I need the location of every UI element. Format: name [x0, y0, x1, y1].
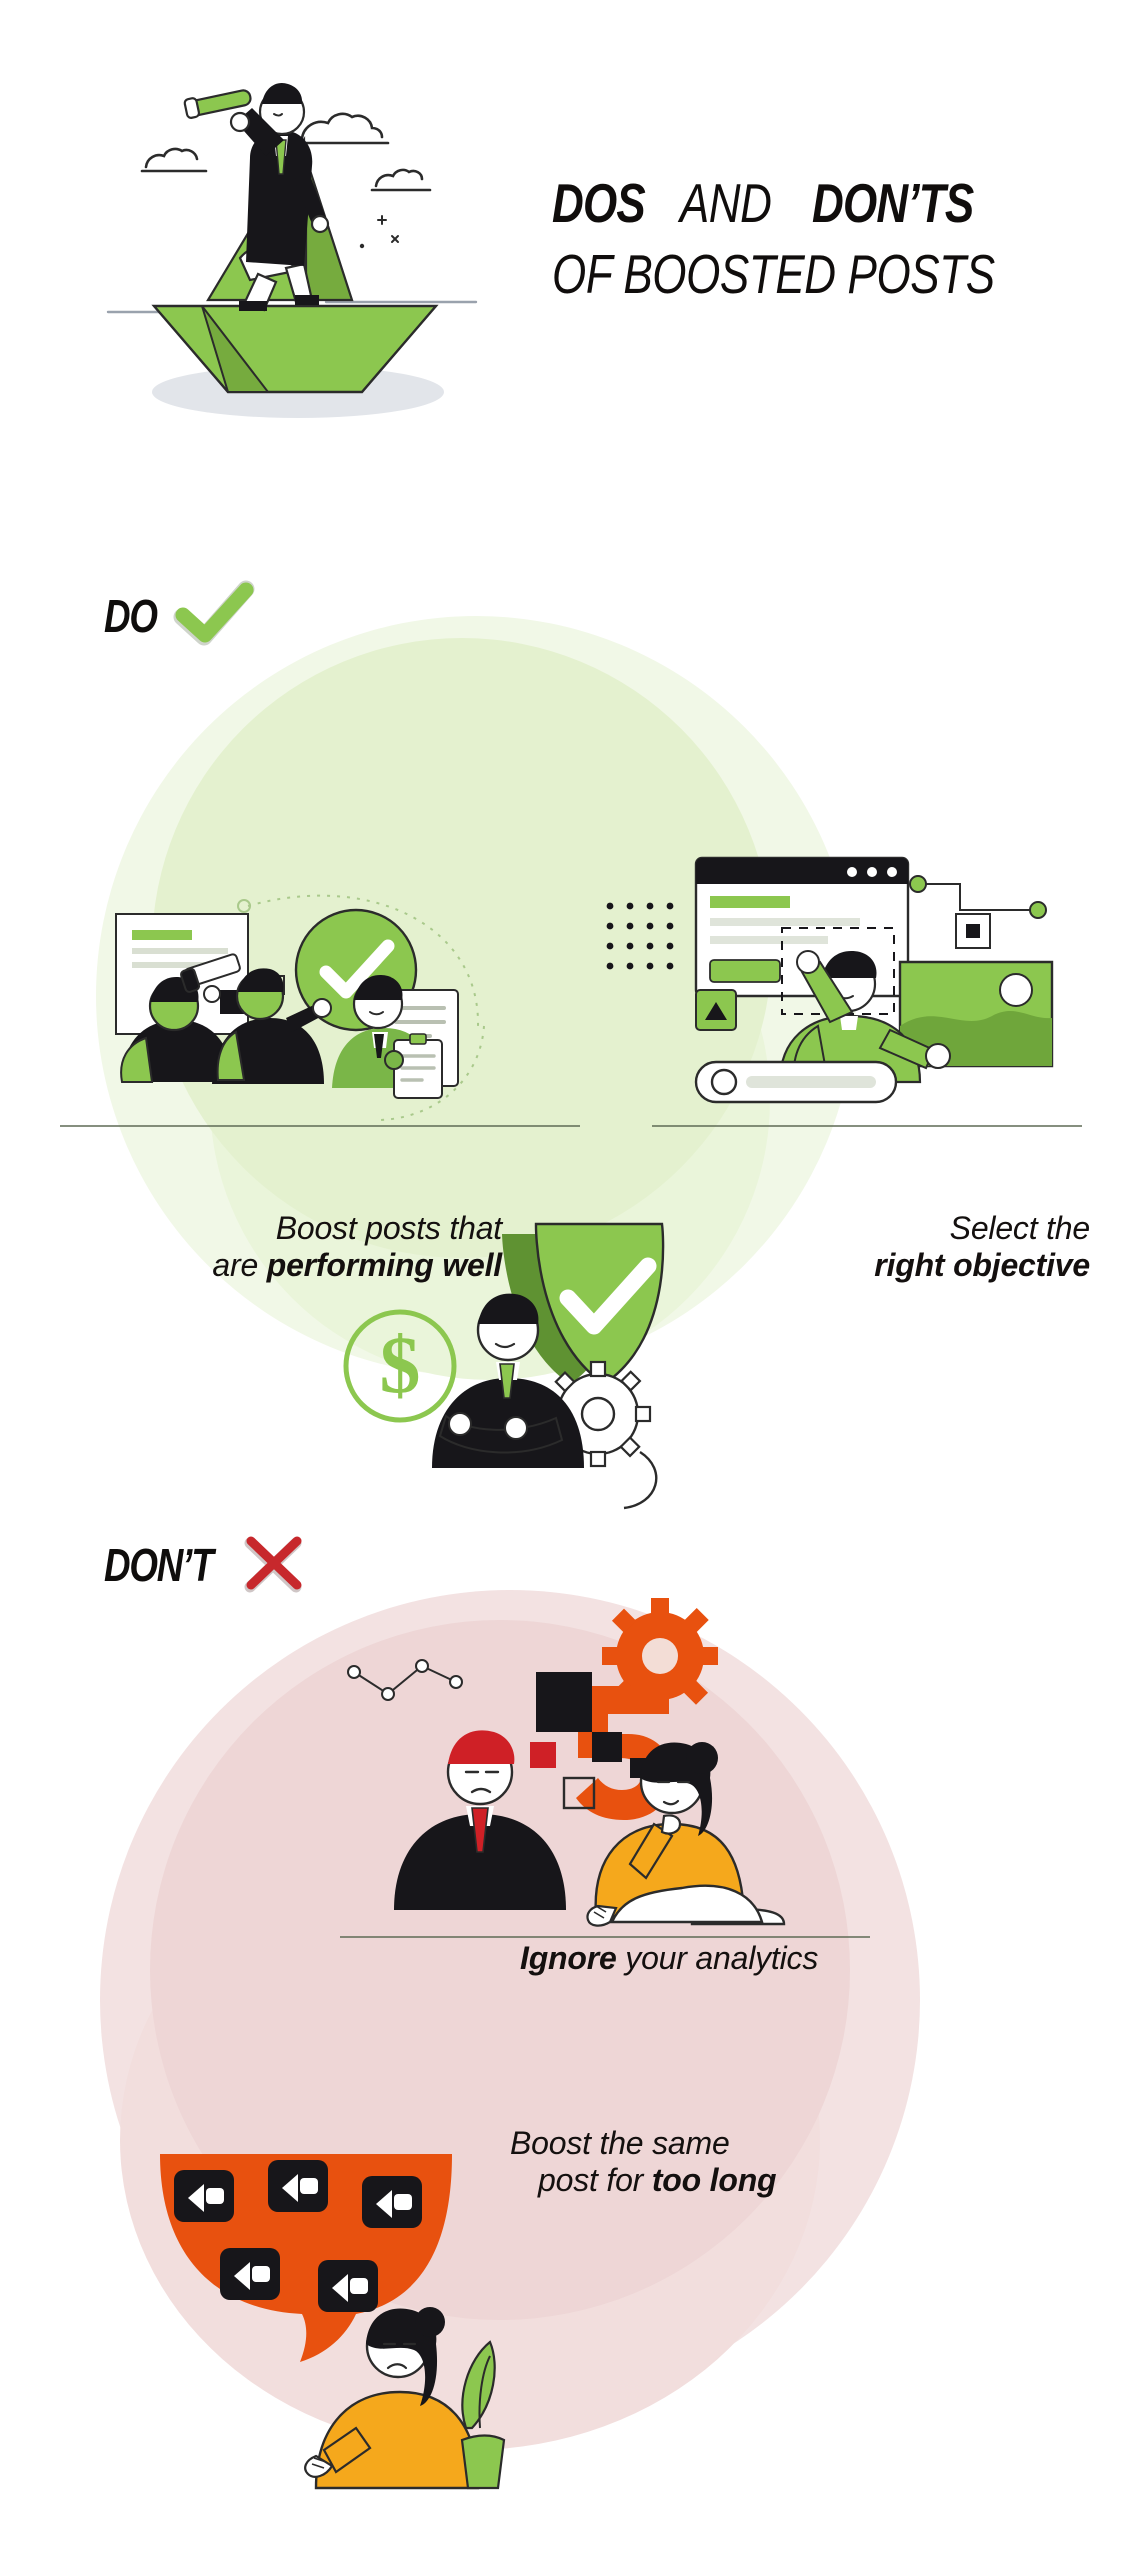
page-title: DOS AND DON’TS OF BOOSTED POSTS: [552, 176, 1072, 302]
caption-dont-2-bold: too long: [652, 2162, 777, 2198]
section-dont: DON’T: [0, 1500, 1146, 2560]
green-check-icon: [176, 585, 254, 647]
title-line-2: OF BOOSTED POSTS: [552, 247, 1072, 302]
baseline-do-1: [60, 1125, 580, 1127]
caption-dont-1-line-1: Ignore your analytics: [520, 1940, 900, 1977]
red-cross-icon: [240, 1535, 306, 1595]
caption-do-2-bold: right objective: [874, 1247, 1090, 1283]
caption-dont-2-line-1: Boost the same: [510, 2125, 910, 2162]
caption-dont-1: Ignore your analytics: [520, 1940, 900, 1977]
illustration-do-3: $: [340, 1200, 810, 1530]
caption-dont-2: Boost the same post for too long: [510, 2125, 910, 2199]
section-label-do: DO: [104, 589, 157, 643]
illustration-do-2: [600, 850, 1080, 1160]
section-do: DO: [0, 520, 1146, 1500]
title-line-2-text: OF BOOSTED POSTS: [552, 247, 995, 302]
section-label-dont: DON’T: [104, 1538, 212, 1592]
caption-dont-1-bold: Ignore: [520, 1940, 617, 1976]
section-header-do: DO: [104, 585, 254, 647]
title-part-0: DOS: [552, 176, 645, 231]
title-part-1: AND: [668, 176, 783, 231]
illustration-dont-1: [330, 1610, 860, 1950]
svg-text:$: $: [380, 1319, 421, 1410]
hero-illustration: [90, 40, 550, 500]
illustration-do-1: [88, 860, 588, 1160]
header-section: DOS AND DON’TS OF BOOSTED POSTS: [0, 0, 1146, 520]
section-header-dont: DON’T: [104, 1535, 306, 1595]
title-part-2: DON’TS: [812, 176, 973, 231]
caption-dont-2-line-2: post for too long: [510, 2162, 910, 2199]
baseline-do-2: [652, 1125, 1082, 1127]
baseline-dont-1: [340, 1936, 870, 1938]
title-line-1: DOS AND DON’TS: [552, 176, 1072, 231]
